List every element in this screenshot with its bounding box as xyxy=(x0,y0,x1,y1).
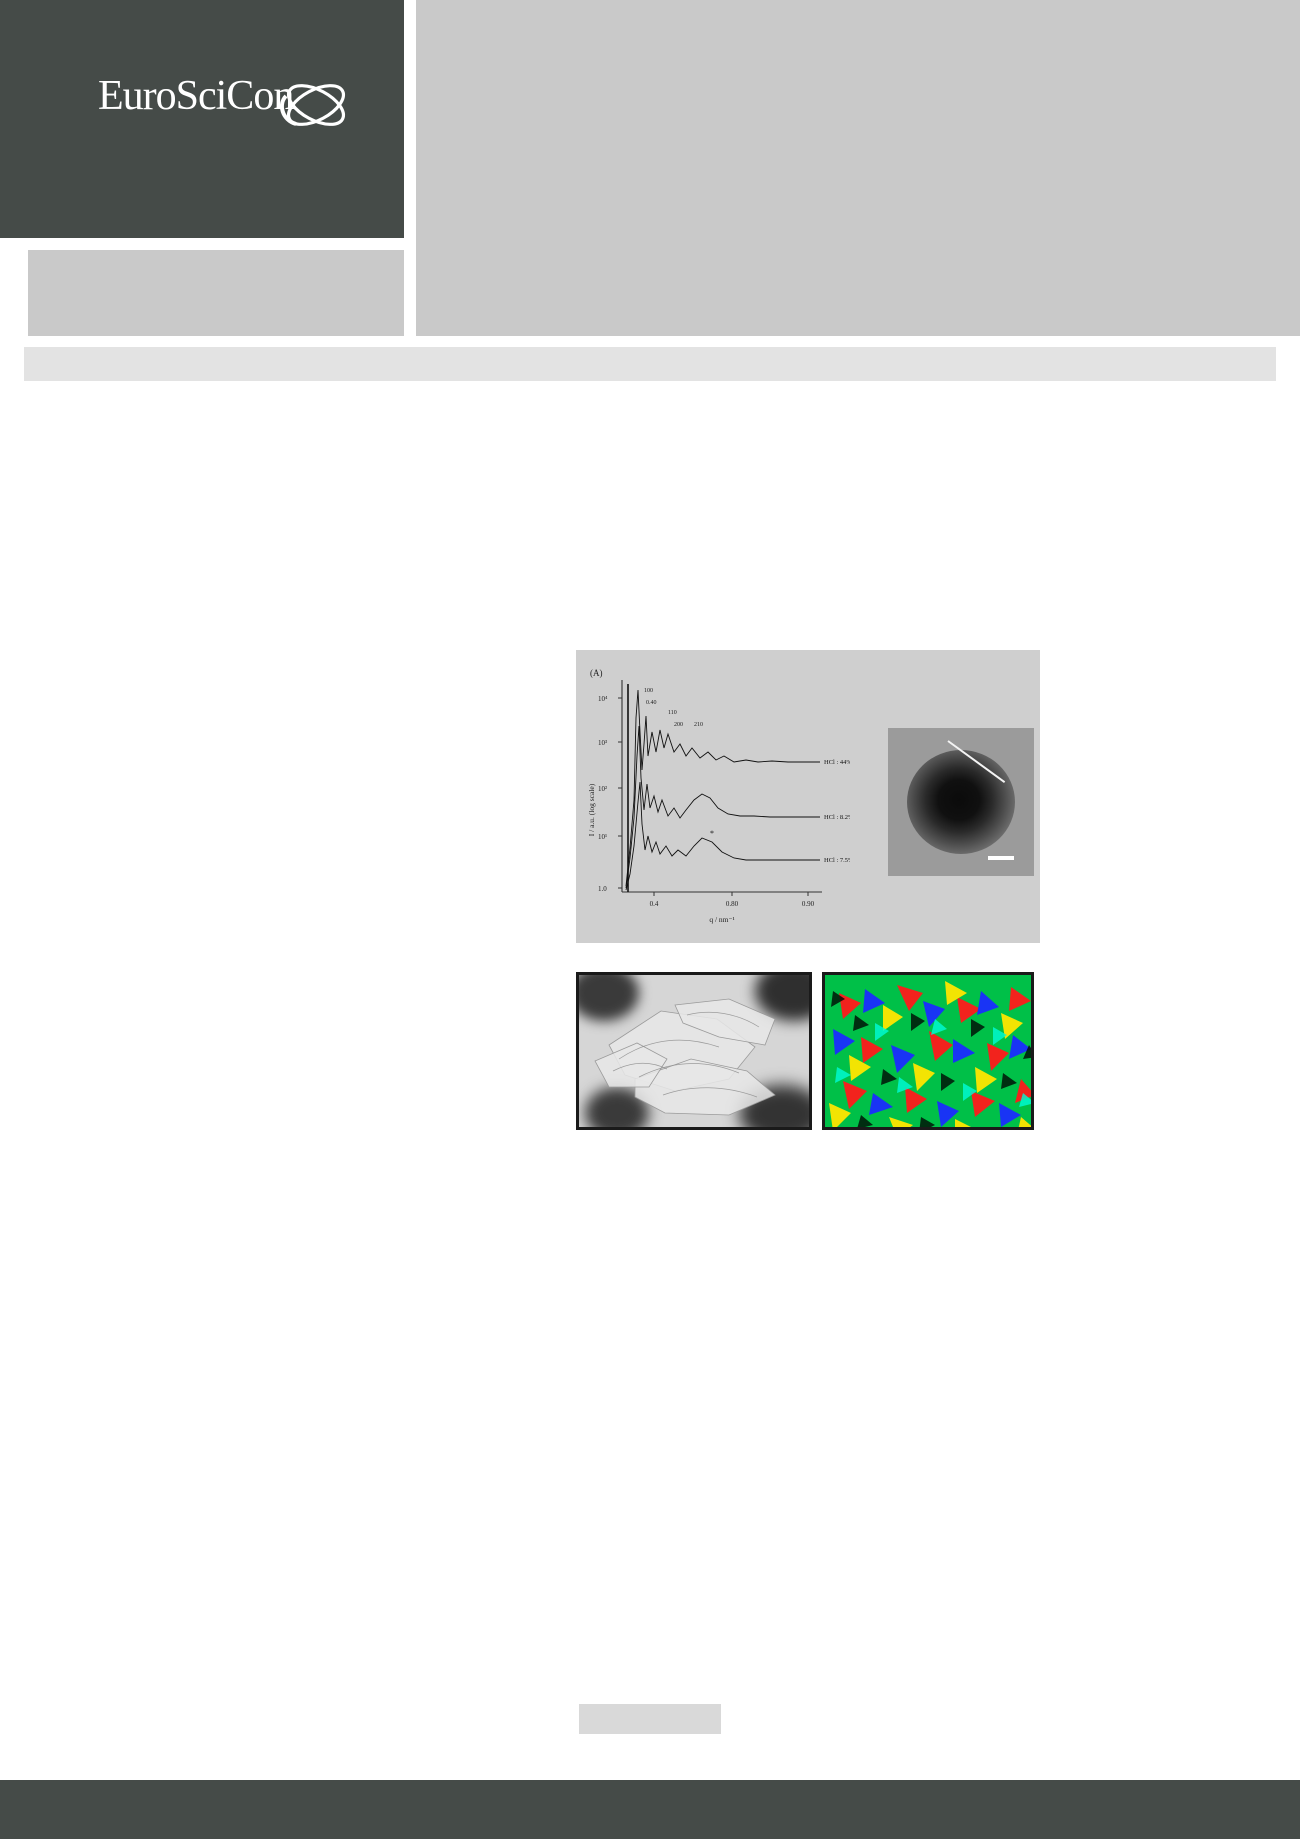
footer-bar xyxy=(0,1780,1300,1839)
svg-text:HCl : 44%: HCl : 44% xyxy=(824,759,850,766)
svg-text:110: 110 xyxy=(668,710,677,716)
svg-text:10¹: 10¹ xyxy=(598,833,607,841)
svg-text:0.40: 0.40 xyxy=(646,700,657,706)
brand-logo: EuroSciCon xyxy=(98,72,348,144)
svg-text:I / a.u. (log scale): I / a.u. (log scale) xyxy=(587,783,596,836)
svg-text:1.0: 1.0 xyxy=(598,885,607,893)
atom-orbit-icon xyxy=(276,74,352,136)
header-title-panel xyxy=(416,0,1300,336)
svg-text:10⁴: 10⁴ xyxy=(598,695,608,703)
svg-text:10³: 10³ xyxy=(598,739,607,747)
svg-text:HCl : 7.5%: HCl : 7.5% xyxy=(824,857,850,864)
svg-text:210: 210 xyxy=(694,722,703,728)
diffraction-blob xyxy=(907,750,1015,854)
header-subtitle-panel xyxy=(28,250,404,336)
figure-group: (A) 10⁴ 10³ 10² 10¹ 1.0 I / a.u. (log sc… xyxy=(576,650,1042,1130)
page-number-tag xyxy=(579,1704,721,1734)
svg-text:0.80: 0.80 xyxy=(726,900,739,908)
svg-text:200: 200 xyxy=(674,722,683,728)
header-strip xyxy=(24,347,1276,381)
header-logo-block: EuroSciCon xyxy=(0,0,404,238)
sem-graphene-sheets-image xyxy=(576,972,812,1130)
svg-text:(A): (A) xyxy=(590,668,603,678)
svg-text:*: * xyxy=(710,829,714,838)
polarized-optical-micrograph xyxy=(822,972,1034,1130)
svg-text:100: 100 xyxy=(644,688,653,694)
figure-bottom-panel xyxy=(576,972,1034,1130)
svg-text:HCl : 8.2%: HCl : 8.2% xyxy=(824,814,850,821)
svg-text:10²: 10² xyxy=(598,785,607,793)
tem-diffraction-image xyxy=(888,728,1034,876)
svg-text:0.90: 0.90 xyxy=(802,900,815,908)
svg-text:q / nm⁻¹: q / nm⁻¹ xyxy=(709,915,734,924)
xrd-plot: (A) 10⁴ 10³ 10² 10¹ 1.0 I / a.u. (log sc… xyxy=(582,660,850,936)
scalebar xyxy=(988,856,1014,860)
svg-text:0.4: 0.4 xyxy=(650,900,659,908)
figure-top-panel: (A) 10⁴ 10³ 10² 10¹ 1.0 I / a.u. (log sc… xyxy=(576,650,1040,943)
